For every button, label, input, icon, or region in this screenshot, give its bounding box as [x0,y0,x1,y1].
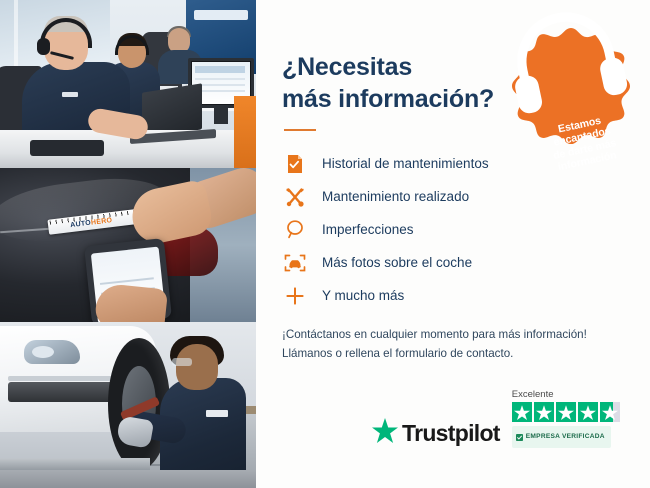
content-panel: ¿Necesitas más información? Historial de… [256,0,650,488]
rating-label: Excelente [512,390,554,400]
mechanic-head [176,344,218,390]
trustpilot-wordmark: Trustpilot [402,422,500,445]
safety-glasses-icon [172,358,192,366]
feature-label: Historial de mantenimientos [322,157,489,171]
verified-label: EMPRESA VERIFICADA [526,434,605,441]
status-badge: EMPRESA VERIFICADA [512,426,611,448]
title-divider [284,129,316,131]
rating-star-4 [578,402,598,422]
desk-tablet [30,140,104,156]
contact-line-1: ¡Contáctanos en cualquier momento para m… [282,325,626,344]
list-item: Imperfecciones [282,214,626,245]
list-item: Y mucho más [282,280,626,311]
feature-label: Imperfecciones [322,223,414,237]
trustpilot-rating: Excelente [512,390,620,449]
contact-copy: ¡Contáctanos en cualquier momento para m… [282,325,626,363]
car-grille [8,382,118,402]
information-banner: AUTOHERO [0,0,650,488]
mechanic-uniform-logo [206,410,228,417]
list-item: Mantenimiento realizado [282,181,626,212]
headset-earcup [37,38,50,55]
list-item: Más fotos sobre el coche [282,247,626,278]
feature-label: Mantenimiento realizado [322,190,469,204]
trustpilot-logo[interactable]: Trustpilot [372,418,500,448]
ruler-brand-part2: HERO [91,217,113,227]
trustpilot-star-icon [372,418,398,448]
clipboard-check-icon [282,151,308,177]
orange-wall-accent [234,96,256,168]
feature-label: Más fotos sobre el coche [322,256,472,270]
rating-star-2 [534,402,554,422]
starburst-shape [512,26,630,144]
rating-stars [512,402,620,422]
car-photo-frame-icon [282,250,308,276]
list-item: Historial de mantenimientos [282,148,626,179]
workshop-floor [0,470,256,488]
rating-star-5-partial [600,402,620,422]
trustpilot-widget[interactable]: Trustpilot Excelente [372,390,620,449]
rating-star-1 [512,402,532,422]
monitor-stand [214,108,228,124]
headline-line-2: más información? [282,84,512,116]
call-centre-agents-photo [0,0,256,168]
car-headlight [24,340,80,364]
promo-starburst-badge: Estamos encantados de darte más informac… [512,26,630,144]
magnifier-icon [282,217,308,243]
photo-column: AUTOHERO [0,0,256,488]
page-title: ¿Necesitas más información? [282,52,512,115]
feature-label: Y mucho más [322,289,404,303]
main-agent-name-badge [62,92,78,97]
wrench-screwdriver-icon [282,184,308,210]
car-chrome-trim [8,376,120,381]
mechanic-wheel-photo [0,322,256,488]
contact-line-2: Llámanos o rellena el formulario de cont… [282,344,626,363]
check-badge-icon [516,428,523,446]
rating-star-3 [556,402,576,422]
vehicle-inspection-photo: AUTOHERO [0,168,256,322]
feature-list: Historial de mantenimientos M [282,148,626,311]
plus-icon [282,283,308,309]
headline-line-1: ¿Necesitas [282,52,512,84]
ruler-brand-part1: AUTO [70,220,92,229]
